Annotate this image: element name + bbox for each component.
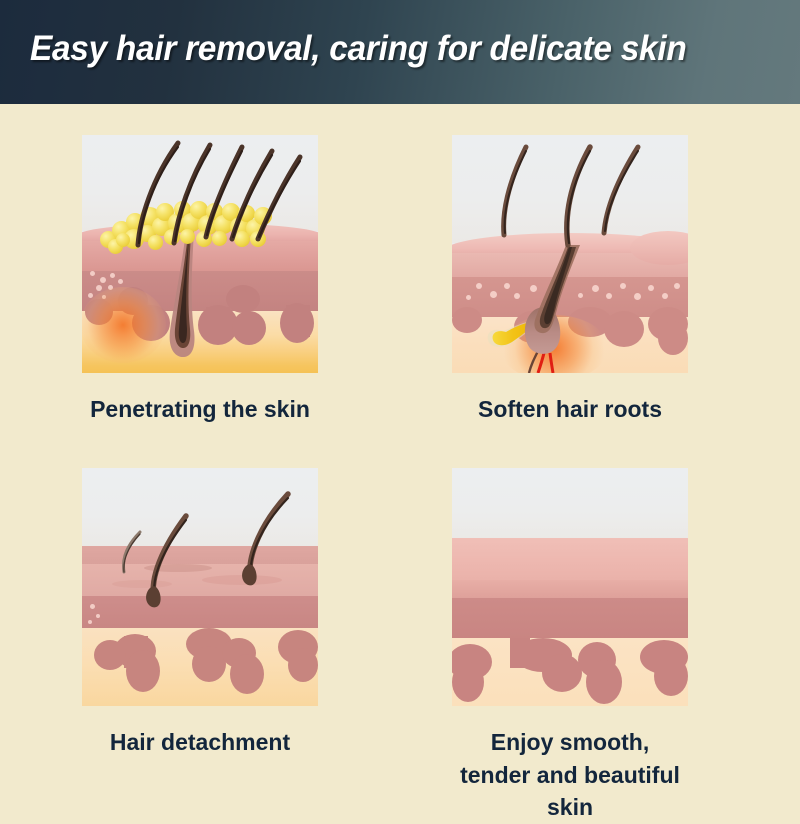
steps-grid: Penetrating the skin bbox=[0, 104, 800, 800]
step-card-4[interactable]: Enjoy smooth, tender and beautiful skin bbox=[452, 468, 688, 824]
page-title: Easy hair removal, caring for delicate s… bbox=[30, 29, 686, 69]
illustration-penetrating-the-skin bbox=[82, 135, 318, 373]
step-caption-4-line-2: tender and beautiful skin bbox=[452, 759, 688, 824]
dermal-papilla bbox=[654, 656, 688, 696]
dermal-papilla bbox=[542, 654, 582, 692]
detached-hair-strands bbox=[82, 468, 318, 706]
step-card-2[interactable]: Soften hair roots bbox=[452, 135, 688, 426]
step-caption-1: Penetrating the skin bbox=[82, 393, 318, 426]
step-caption-3: Hair detachment bbox=[82, 726, 318, 759]
hair-strands bbox=[452, 135, 688, 373]
illustration-hair-detachment bbox=[82, 468, 318, 706]
dermal-papilla bbox=[586, 660, 622, 704]
step-caption-2: Soften hair roots bbox=[452, 393, 688, 426]
step-caption-4-line-1: Enjoy smooth, bbox=[452, 726, 688, 759]
step-caption-4: Enjoy smooth, tender and beautiful skin bbox=[452, 726, 688, 824]
header-banner: Easy hair removal, caring for delicate s… bbox=[0, 0, 800, 104]
step-card-1[interactable]: Penetrating the skin bbox=[82, 135, 318, 426]
illustration-soften-hair-roots bbox=[452, 135, 688, 373]
epidermis-surface bbox=[452, 538, 688, 586]
hair-strands bbox=[82, 135, 318, 373]
air-region bbox=[452, 468, 688, 540]
dermal-papilla bbox=[452, 662, 484, 702]
step-card-3[interactable]: Hair detachment bbox=[82, 468, 318, 759]
dermal-papilla-stem bbox=[510, 638, 530, 668]
illustration-smooth-skin bbox=[452, 468, 688, 706]
